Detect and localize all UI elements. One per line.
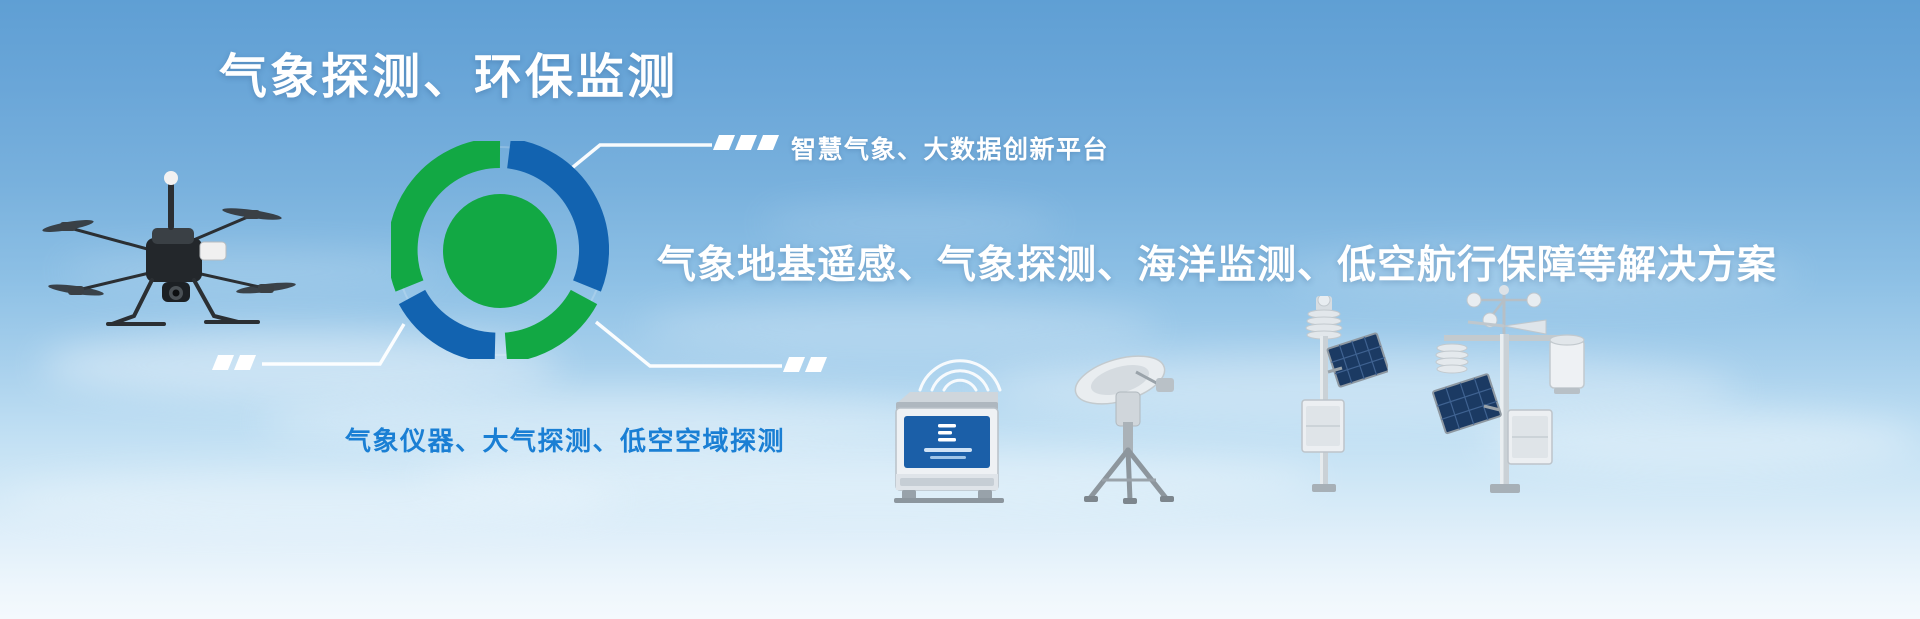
label-smart-meteorology: 智慧气象、大数据创新平台 [791,130,1109,166]
weather-station-image [1404,278,1604,498]
page-title: 气象探测、环保监测 [219,48,678,108]
solar-sensor-pole-image [1272,296,1388,496]
chevron-marks-left [215,355,253,370]
chevron-mark [735,135,757,150]
chevron-mark [212,355,234,370]
chevron-mark [805,357,827,372]
chevron-mark [783,357,805,372]
chevron-marks-right [786,357,824,372]
logo-ring-icon [391,141,609,359]
chevron-mark [757,135,779,150]
label-instruments: 气象仪器、大气探测、低空空域探测 [345,421,785,458]
lidar-unit-image [886,378,1012,508]
banner-root: 气象探测、环保监测 智慧气象、大数据创新平台 气象地基遥感、气象探测、海洋监测、… [0,0,1920,619]
cloud-decoration [0,470,620,528]
drone-image [42,158,312,348]
label-solutions: 气象地基遥感、气象探测、海洋监测、低空航行保障等解决方案 [657,234,1777,290]
chevron-mark [234,355,256,370]
chevron-mark [713,135,735,150]
dish-antenna-image [1068,352,1196,508]
chevron-marks-top [716,135,776,150]
